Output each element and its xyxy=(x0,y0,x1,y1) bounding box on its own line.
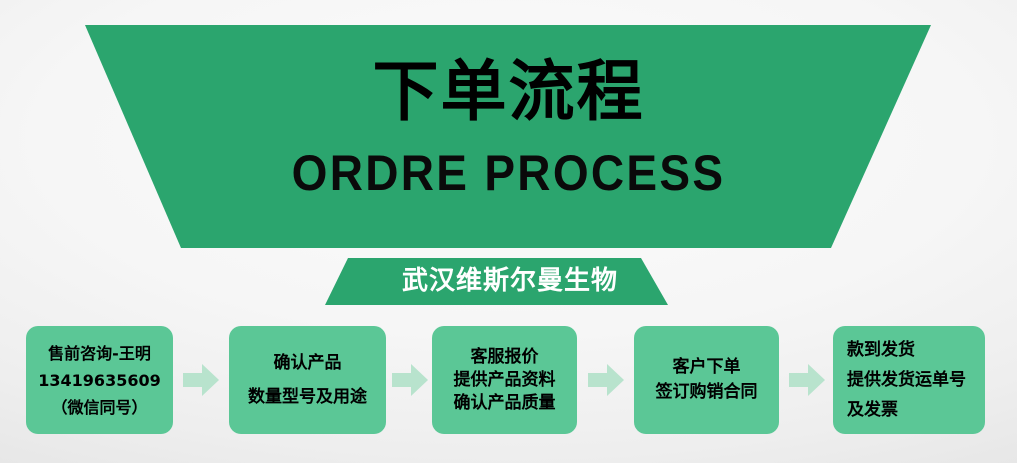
process-step-5[interactable]: 款到发货 提供发货运单号 及发票 xyxy=(833,326,985,434)
step-5-line-3: 及发票 xyxy=(847,395,898,425)
step-2-line-2: 数量型号及用途 xyxy=(248,380,367,414)
page-subtitle: ORDRE PROCESS xyxy=(41,144,977,202)
step-3-line-3: 确认产品质量 xyxy=(454,392,556,415)
process-flow-row: 售前咨询-王明 13419635609 （微信同号） 确认产品 数量型号及用途 … xyxy=(0,326,1017,436)
page-title: 下单流程 xyxy=(0,52,1017,132)
step-3-line-2: 提供产品资料 xyxy=(454,369,556,392)
process-step-3[interactable]: 客服报价 提供产品资料 确认产品质量 xyxy=(432,326,577,434)
order-process-infographic: 下单流程 ORDRE PROCESS 武汉维斯尔曼生物 售前咨询-王明 1341… xyxy=(0,0,1017,463)
arrow-right-icon xyxy=(392,364,428,396)
step-1-line-3: （微信同号） xyxy=(51,394,147,421)
step-1-line-2: 13419635609 xyxy=(38,367,160,394)
process-step-4[interactable]: 客户下单 签订购销合同 xyxy=(634,326,779,434)
step-2-line-1: 确认产品 xyxy=(274,346,342,380)
step-4-line-1: 客户下单 xyxy=(673,355,741,380)
arrow-right-icon xyxy=(789,364,825,396)
process-step-2[interactable]: 确认产品 数量型号及用途 xyxy=(229,326,386,434)
step-1-line-1: 售前咨询-王明 xyxy=(48,340,151,367)
step-3-line-1: 客服报价 xyxy=(471,346,539,369)
arrow-right-icon xyxy=(183,364,219,396)
company-name: 武汉维斯尔曼生物 xyxy=(300,262,720,300)
arrow-right-icon xyxy=(588,364,624,396)
step-5-line-1: 款到发货 xyxy=(847,335,915,365)
process-step-1[interactable]: 售前咨询-王明 13419635609 （微信同号） xyxy=(26,326,173,434)
step-5-line-2: 提供发货运单号 xyxy=(847,365,966,395)
step-4-line-2: 签订购销合同 xyxy=(656,380,758,405)
